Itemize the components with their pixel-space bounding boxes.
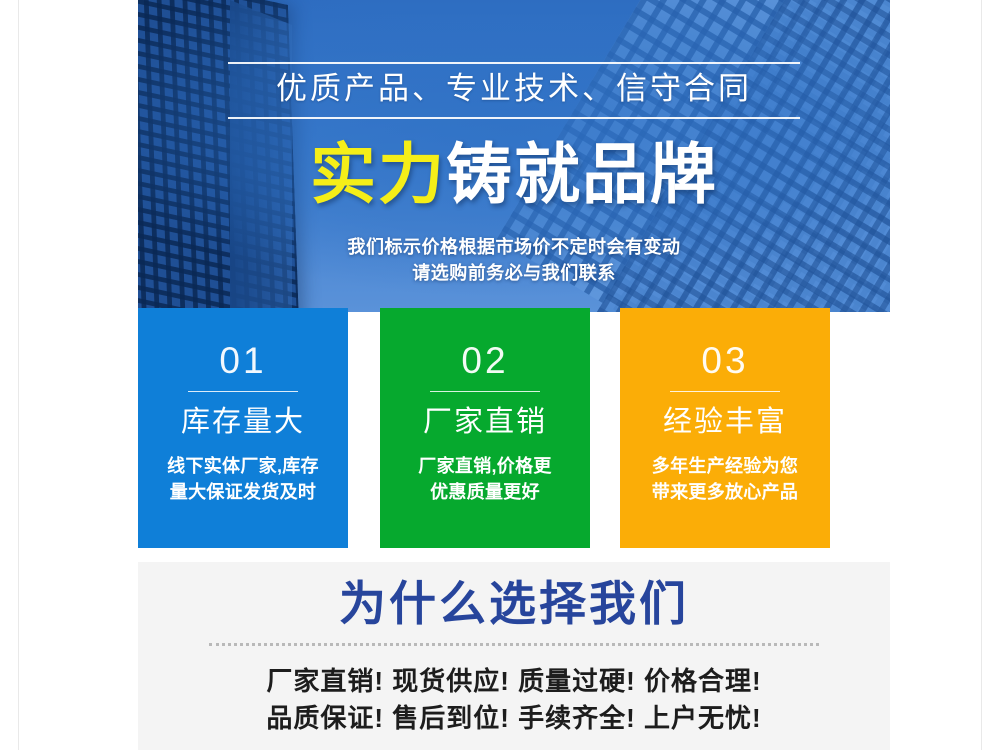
feature-card-inventory[interactable]: 01 库存量大 线下实体厂家,库存 量大保证发货及时 (138, 308, 348, 548)
feature-card-desc-line-2: 量大保证发货及时 (144, 480, 342, 506)
feature-card-description: 线下实体厂家,库存 量大保证发货及时 (138, 454, 348, 505)
why-choose-us-title: 为什么选择我们 (138, 578, 890, 630)
hero-banner: 优质产品、专业技术、信守合同 实力铸就品牌 我们标示价格根据市场价不定时会有变动… (138, 0, 890, 312)
hero-headline: 实力铸就品牌 (138, 140, 890, 209)
feature-card-desc-line-2: 带来更多放心产品 (626, 480, 824, 506)
hero-tagline-frame: 优质产品、专业技术、信守合同 (228, 62, 800, 119)
hero-tagline: 优质产品、专业技术、信守合同 (228, 70, 800, 109)
benefits-line-1: 厂家直销! 现货供应! 质量过硬! 价格合理! (138, 663, 890, 700)
hero-subtitle-line-2: 请选购前务必与我们联系 (138, 260, 890, 286)
feature-card-rule (430, 391, 540, 392)
feature-card-list: 01 库存量大 线下实体厂家,库存 量大保证发货及时 02 厂家直销 厂家直销,… (138, 308, 890, 550)
benefits-line-2: 品质保证! 售后到位! 手续齐全! 上户无忧! (138, 700, 890, 737)
feature-card-title: 经验丰富 (620, 406, 830, 439)
benefits-list: 厂家直销! 现货供应! 质量过硬! 价格合理! 品质保证! 售后到位! 手续齐全… (138, 663, 890, 737)
feature-card-number: 03 (620, 342, 830, 379)
feature-card-description: 多年生产经验为您 带来更多放心产品 (620, 454, 830, 505)
feature-card-rule (670, 391, 780, 392)
page-right-rule (981, 0, 982, 750)
hero-headline-highlight: 实力 (310, 137, 446, 211)
dotted-divider (209, 643, 819, 646)
feature-card-number: 01 (138, 342, 348, 379)
why-choose-us-section: 为什么选择我们 厂家直销! 现货供应! 质量过硬! 价格合理! 品质保证! 售后… (138, 562, 890, 750)
feature-card-rule (188, 391, 298, 392)
feature-card-desc-line-1: 线下实体厂家,库存 (144, 454, 342, 480)
promo-page: 优质产品、专业技术、信守合同 实力铸就品牌 我们标示价格根据市场价不定时会有变动… (0, 0, 1000, 750)
feature-card-title: 库存量大 (138, 406, 348, 439)
feature-card-desc-line-1: 多年生产经验为您 (626, 454, 824, 480)
feature-card-title: 厂家直销 (380, 406, 590, 439)
feature-card-factory-direct[interactable]: 02 厂家直销 厂家直销,价格更 优惠质量更好 (380, 308, 590, 548)
hero-subtitle-line-1: 我们标示价格根据市场价不定时会有变动 (138, 234, 890, 260)
feature-card-desc-line-2: 优惠质量更好 (386, 480, 584, 506)
hero-subtitle: 我们标示价格根据市场价不定时会有变动 请选购前务必与我们联系 (138, 234, 890, 286)
page-left-rule (18, 0, 19, 750)
feature-card-experience[interactable]: 03 经验丰富 多年生产经验为您 带来更多放心产品 (620, 308, 830, 548)
feature-card-number: 02 (380, 342, 590, 379)
feature-card-desc-line-1: 厂家直销,价格更 (386, 454, 584, 480)
feature-card-description: 厂家直销,价格更 优惠质量更好 (380, 454, 590, 505)
hero-headline-rest: 铸就品牌 (446, 137, 718, 211)
